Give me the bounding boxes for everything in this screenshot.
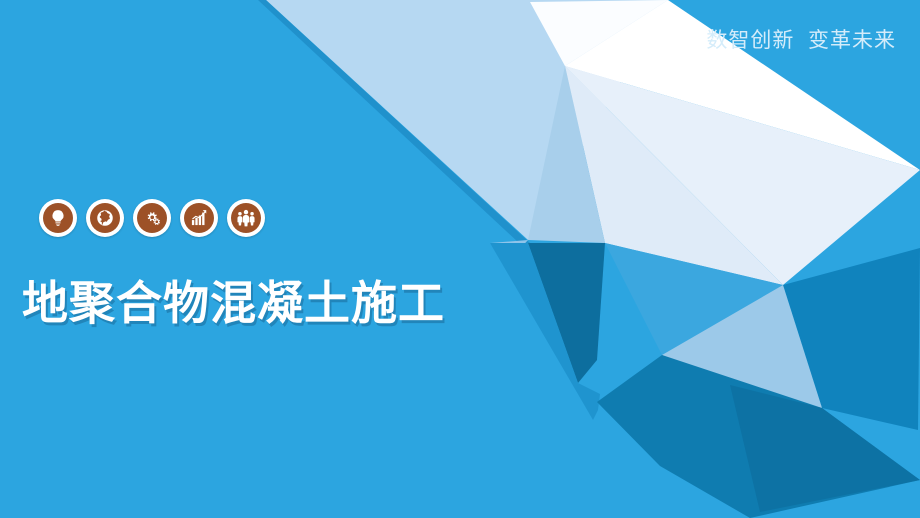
bar-chart-icon <box>184 203 214 233</box>
presentation-title-slide: 数智创新 变革未来 <box>0 0 920 518</box>
icon-badge-row <box>39 199 265 237</box>
page-title: 地聚合物混凝土施工 <box>22 275 445 333</box>
icon-badge-globe <box>86 199 124 237</box>
tagline-text: 数智创新 变革未来 <box>706 24 896 54</box>
people-group-icon <box>231 203 261 233</box>
gears-icon <box>137 203 167 233</box>
low-poly-background-graphic <box>0 0 920 518</box>
globe-icon <box>90 203 120 233</box>
icon-badge-chart <box>180 199 218 237</box>
icon-badge-innovation <box>39 199 77 237</box>
lightbulb-innovation-icon <box>43 203 73 233</box>
icon-badge-gears <box>133 199 171 237</box>
icon-badge-people <box>227 199 265 237</box>
